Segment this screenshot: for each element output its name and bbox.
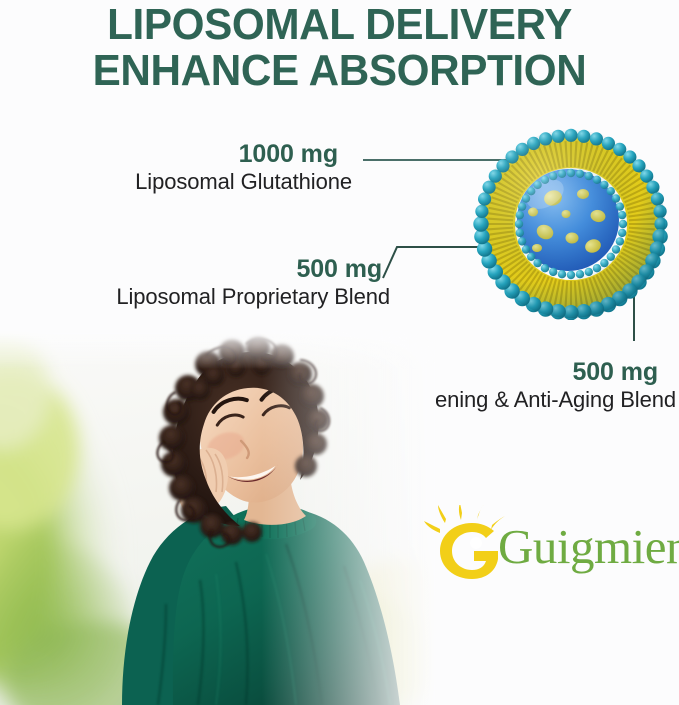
callout-dose: 1000 mg (0, 140, 352, 168)
headline-line-1: LIPOSOMAL DELIVERY (14, 2, 666, 48)
callout-liposomal-glutathione: 1000 mg Liposomal Glutathione (0, 140, 352, 195)
callout-description: Liposomal Proprietary Blend (0, 283, 390, 310)
callout-dose: 500 mg (0, 255, 390, 283)
logo-wordmark: Guigmiens (498, 519, 679, 575)
callout-liposomal-proprietary-blend: 500 mg Liposomal Proprietary Blend (0, 255, 390, 310)
liposome-illustration (473, 128, 669, 320)
liposome-svg (473, 128, 669, 320)
page-title: LIPOSOMAL DELIVERY ENHANCE ABSORPTION (14, 2, 666, 94)
photo-top-fade (0, 330, 436, 480)
lifestyle-photo (0, 330, 436, 705)
lifestyle-photo-svg (0, 330, 436, 705)
headline-line-2: ENHANCE ABSORPTION (14, 48, 666, 94)
shell-shading (477, 130, 665, 318)
callout-description: Liposomal Glutathione (0, 168, 352, 195)
infographic-canvas: LIPOSOMAL DELIVERY ENHANCE ABSORPTION 10… (0, 0, 679, 705)
brand-logo[interactable]: Guigmiens (424, 505, 676, 587)
